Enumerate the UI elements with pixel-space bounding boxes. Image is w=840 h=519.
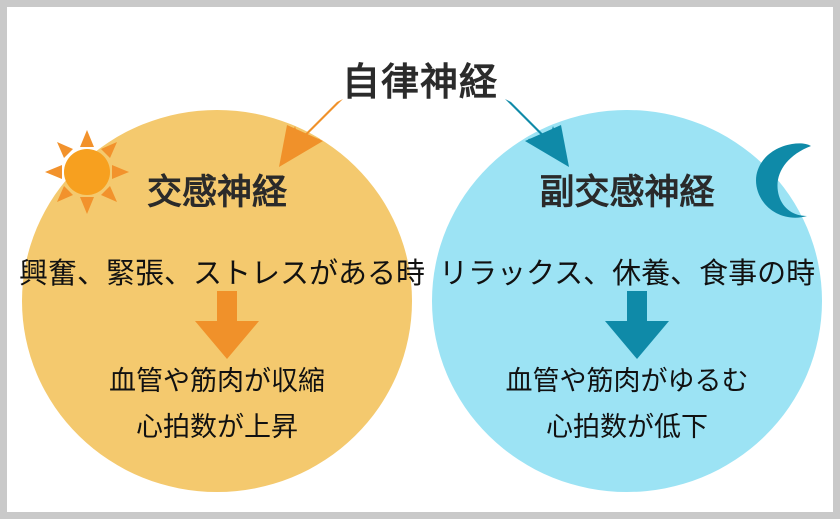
diagram-plate: 自律神経 — [7, 7, 833, 512]
effect-line: 心拍数が低下 — [432, 405, 822, 451]
page-title: 自律神経 — [7, 51, 833, 106]
arrow-down-right-icon — [499, 95, 583, 171]
condition-parasympathetic: リラックス、休養、食事の時 — [439, 250, 815, 292]
effects-parasympathetic: 血管や筋肉がゆるむ 心拍数が低下 — [432, 359, 822, 451]
arrow-down-icon-sympathetic — [189, 291, 265, 359]
branch-title-sympathetic: 交感神経 — [22, 164, 412, 215]
diagram-canvas: 自律神経 — [0, 0, 840, 519]
arrow-down-icon-parasympathetic — [599, 291, 675, 359]
effect-line: 血管や筋肉が収縮 — [22, 359, 412, 405]
branch-title-parasympathetic: 副交感神経 — [432, 164, 822, 215]
effect-line: 血管や筋肉がゆるむ — [432, 359, 822, 405]
effects-sympathetic: 血管や筋肉が収縮 心拍数が上昇 — [22, 359, 412, 451]
effect-line: 心拍数が上昇 — [22, 405, 412, 451]
arrow-down-left-icon — [265, 95, 349, 171]
condition-sympathetic: 興奮、緊張、ストレスがある時 — [19, 250, 425, 292]
